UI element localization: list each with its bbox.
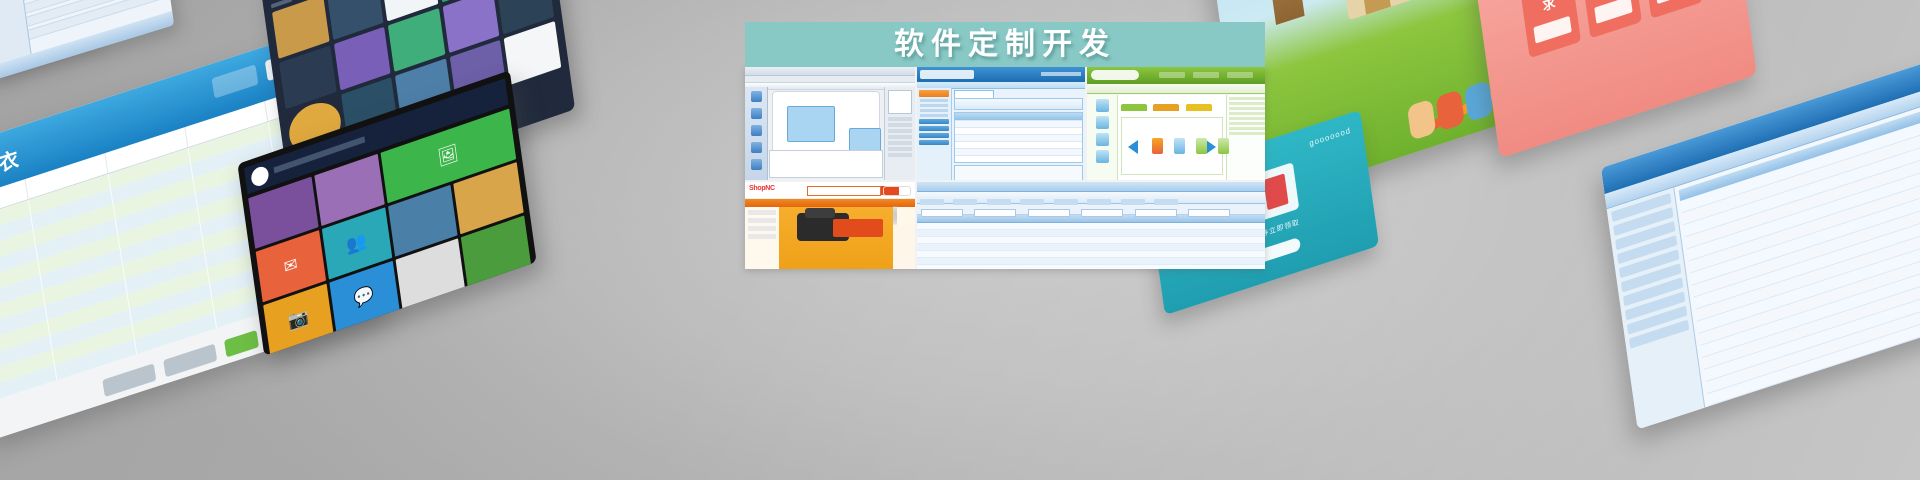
- filter-field[interactable]: [974, 209, 1016, 217]
- page-title: 软件定制开发: [894, 30, 1116, 60]
- screenshot-erp-datagrid[interactable]: [917, 182, 1265, 269]
- site-header: ShopNC: [745, 182, 915, 199]
- grid-row[interactable]: [955, 120, 1082, 127]
- grid-row[interactable]: [917, 223, 1265, 230]
- grid-row[interactable]: [917, 258, 1265, 265]
- portal-body: [1087, 95, 1265, 180]
- property-row: [888, 135, 912, 139]
- property-row: [888, 147, 912, 151]
- nav-item[interactable]: [1193, 72, 1219, 78]
- main-panel: [952, 88, 1085, 180]
- category-list: [745, 207, 779, 269]
- category-item[interactable]: [748, 234, 776, 239]
- sidebar-group[interactable]: [919, 140, 949, 145]
- tool-icon[interactable]: [751, 142, 762, 153]
- sidebar-item[interactable]: [920, 99, 948, 102]
- filter-field[interactable]: [1028, 209, 1070, 217]
- avatar: [250, 164, 270, 188]
- item-thumbnail[interactable]: [1196, 138, 1207, 154]
- detail-panel: [954, 165, 1083, 180]
- sidebar-item[interactable]: [920, 104, 948, 107]
- tab-item[interactable]: [1186, 104, 1212, 111]
- tool-palette: [745, 87, 768, 180]
- tool-icon[interactable]: [751, 159, 762, 170]
- tool-icon[interactable]: [751, 125, 762, 136]
- content: [917, 88, 1085, 180]
- sidebar-title: [919, 90, 949, 97]
- grid-row[interactable]: [917, 237, 1265, 244]
- tool-icon[interactable]: [751, 91, 762, 102]
- list-item[interactable]: [1229, 122, 1265, 125]
- logo: [1091, 70, 1139, 80]
- overview-thumbnail: [888, 90, 912, 114]
- character-avatar: [1407, 99, 1437, 141]
- list-item[interactable]: [1229, 97, 1265, 100]
- grid-row[interactable]: [917, 230, 1265, 237]
- property-row: [888, 123, 912, 127]
- item-thumbnail[interactable]: [1174, 138, 1185, 154]
- list-item[interactable]: [1229, 117, 1265, 120]
- nav-item[interactable]: [1159, 72, 1185, 78]
- sidebar-nav: [917, 88, 952, 180]
- property-row: [888, 129, 912, 133]
- chat-icon: 💬: [353, 283, 376, 310]
- tool-icon[interactable]: [751, 108, 762, 119]
- promo-caption: [833, 219, 883, 237]
- left-widgets: [1087, 95, 1118, 180]
- filter-field[interactable]: [921, 209, 963, 217]
- sidebar-group[interactable]: [919, 119, 949, 124]
- mail-icon: ✉: [283, 254, 299, 279]
- grid-row[interactable]: [955, 127, 1082, 134]
- category-item[interactable]: [748, 218, 776, 223]
- sidebar-group[interactable]: [919, 126, 949, 131]
- list-item[interactable]: [1229, 132, 1265, 135]
- rail-icon[interactable]: [895, 206, 897, 225]
- tree-trunk: [1264, 0, 1305, 25]
- card-field: [1533, 16, 1571, 44]
- device-window-topleft: [0, 0, 174, 83]
- portal-header: [1087, 67, 1265, 84]
- list-item[interactable]: [1229, 107, 1265, 110]
- right-panel: [1226, 95, 1265, 180]
- app-header: [917, 67, 1085, 82]
- grid-row[interactable]: [917, 244, 1265, 251]
- search-input[interactable]: [807, 186, 881, 196]
- titlebar: [745, 67, 915, 76]
- card-item[interactable]: 招: [1642, 0, 1703, 19]
- screenshot-collage: ShopNC: [745, 67, 1265, 269]
- filter-field[interactable]: [1188, 209, 1230, 217]
- cancel-button[interactable]: [102, 363, 156, 397]
- nav-item[interactable]: [1227, 72, 1253, 78]
- ribbon-toolbar: [917, 192, 1265, 204]
- card-item[interactable]: 求: [1520, 0, 1581, 58]
- logo: [920, 70, 974, 79]
- filter-field[interactable]: [1135, 209, 1177, 217]
- card-field: [1594, 0, 1632, 24]
- grid-row[interactable]: [917, 265, 1265, 269]
- diagram-node[interactable]: [849, 128, 881, 152]
- grid-row[interactable]: [917, 251, 1265, 258]
- hero-banner: 软件定制开发: [745, 22, 1265, 67]
- screenshot-blue-mis[interactable]: [917, 67, 1085, 180]
- camera-icon: 📷: [287, 306, 310, 333]
- card-row: 求 职 招: [1493, 0, 1729, 67]
- house-door: [1361, 0, 1391, 15]
- sidebar-item[interactable]: [920, 114, 948, 117]
- window-titlebar: [917, 182, 1265, 192]
- screenshot-shopnc-mall[interactable]: ShopNC: [745, 182, 915, 269]
- item-thumbnail[interactable]: [1152, 138, 1163, 154]
- prev-arrow-icon[interactable]: [1128, 140, 1138, 154]
- query-toolbar[interactable]: [954, 98, 1083, 110]
- hero-section: [745, 207, 915, 269]
- tab-active[interactable]: [954, 90, 994, 98]
- reset-button[interactable]: [163, 343, 217, 377]
- grid-row[interactable]: [955, 134, 1082, 141]
- screenshot-flowchart-designer[interactable]: [745, 67, 915, 180]
- list-item[interactable]: [1229, 112, 1265, 115]
- property-row: [888, 153, 912, 157]
- tab-item[interactable]: [1153, 104, 1179, 111]
- card-field: [1655, 0, 1693, 4]
- category-item[interactable]: [748, 226, 776, 231]
- category-item[interactable]: [748, 210, 776, 215]
- grid-row[interactable]: [955, 141, 1082, 148]
- card-item[interactable]: 职: [1581, 0, 1642, 38]
- character-avatar: [1435, 89, 1465, 131]
- secondary-button[interactable]: [212, 64, 259, 98]
- sidebar-item[interactable]: [920, 109, 948, 112]
- grid-header: [955, 113, 1082, 120]
- filter-field[interactable]: [1081, 209, 1123, 217]
- submit-button[interactable]: [224, 329, 259, 357]
- item-thumbnail[interactable]: [1218, 138, 1229, 154]
- list-item[interactable]: [1229, 127, 1265, 130]
- tab-item[interactable]: [1121, 104, 1147, 111]
- center-widget: [1118, 95, 1226, 180]
- sub-nav: [1087, 84, 1265, 94]
- people-icon: 👥: [345, 230, 368, 257]
- list-item[interactable]: [1229, 102, 1265, 105]
- hero-stage: 旅游衣: [0, 0, 1920, 480]
- widget-icon[interactable]: [1096, 116, 1109, 129]
- card-label: 求: [1541, 0, 1556, 15]
- menubar: [745, 76, 915, 83]
- widget-icon[interactable]: [1096, 99, 1109, 112]
- sidebar-group[interactable]: [919, 133, 949, 138]
- property-row: [888, 117, 912, 121]
- widget-icon[interactable]: [1096, 150, 1109, 163]
- filter-bar: [917, 204, 1265, 215]
- data-grid: [954, 112, 1083, 163]
- promo-banner[interactable]: [779, 207, 893, 269]
- metro-tile-grid: 🖼 ✉ 👥 📷 💬: [248, 109, 531, 356]
- next-arrow-icon[interactable]: [1206, 140, 1216, 154]
- screenshot-green-portal[interactable]: [1087, 67, 1265, 180]
- cart-button[interactable]: [883, 186, 911, 196]
- carousel: [1121, 117, 1223, 175]
- output-panel: [769, 150, 883, 178]
- side-rail: [893, 207, 915, 269]
- grid-row[interactable]: [955, 148, 1082, 155]
- user-info: [1041, 72, 1081, 76]
- site-logo: ShopNC: [749, 185, 775, 192]
- diagram-node[interactable]: [787, 106, 835, 142]
- widget-icon[interactable]: [1096, 133, 1109, 146]
- image-icon: 🖼: [437, 142, 460, 169]
- property-panel: [884, 87, 915, 180]
- property-row: [888, 141, 912, 145]
- grid-row[interactable]: [955, 155, 1082, 162]
